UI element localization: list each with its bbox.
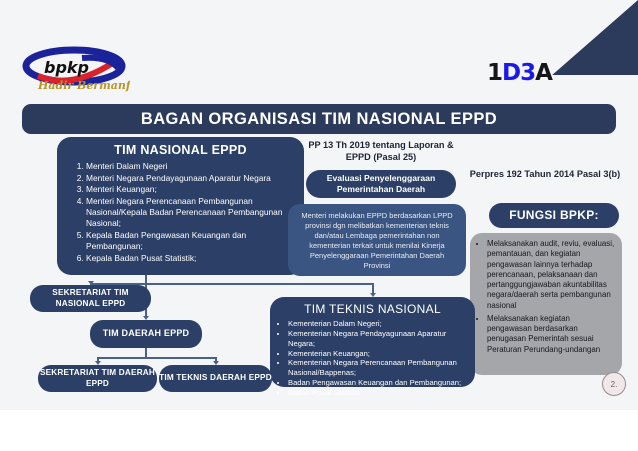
fungsi-bpkp-list: Melaksanakan audit, reviu, evaluasi, pem… bbox=[474, 239, 616, 355]
slide-title-bar: BAGAN ORGANISASI TIM NASIONAL EPPD bbox=[22, 104, 616, 134]
svg-text:bpkp: bpkp bbox=[44, 58, 89, 77]
list-item: Kementerian Negara Perencanaan Pembangun… bbox=[288, 358, 469, 378]
list-item: Kepala Badan Pengawasan Keuangan dan Pem… bbox=[86, 230, 296, 252]
list-item: Menteri Dalam Negeri bbox=[86, 161, 296, 172]
pp-section-heading: PP 13 Th 2019 tentang Laporan & EPPD (Pa… bbox=[296, 139, 466, 164]
page-title: BAGAN ORGANISASI TIM NASIONAL EPPD bbox=[141, 110, 497, 129]
list-item: Kementerian Dalam Negeri; bbox=[288, 319, 469, 329]
list-item: Badan Pengawasan Keuangan dan Pembanguna… bbox=[288, 378, 469, 388]
node-tim-daerah-eppd[interactable]: TIM DAERAH EPPD bbox=[90, 320, 202, 348]
tim-nasional-heading: TIM NASIONAL EPPD bbox=[65, 143, 296, 157]
list-item: Melaksanakan kegiatan pengawasan berdasa… bbox=[487, 314, 616, 355]
node-sekretariat-tim-nasional-eppd[interactable]: SEKRETARIAT TIM NASIONAL EPPD bbox=[30, 285, 151, 312]
secondary-logo: 1D3A bbox=[487, 60, 552, 86]
connector-arrow bbox=[370, 293, 376, 297]
tim-nasional-list: Menteri Dalam Negeri Menteri Negara Pend… bbox=[65, 161, 296, 264]
svg-text:Hadir Bermanfaat: Hadir Bermanfaat bbox=[37, 79, 130, 92]
node-sekretariat-tim-daerah-eppd[interactable]: SEKRETARIAT TIM DAERAH EPPD bbox=[38, 365, 157, 392]
list-item: Menteri Negara Pendayagunaan Aparatur Ne… bbox=[86, 173, 296, 184]
tim-teknis-nasional-heading: TIM TEKNIS NASIONAL bbox=[276, 302, 469, 316]
evaluasi-body-box: Menteri melakukan EPPD berdasarkan LPPD … bbox=[288, 204, 466, 276]
list-item: Melaksanakan audit, reviu, evaluasi, pem… bbox=[487, 239, 616, 311]
tim-teknis-nasional-list: Kementerian Dalam Negeri; Kementerian Ne… bbox=[276, 319, 469, 398]
page-number: 2. bbox=[611, 380, 618, 389]
tim-teknis-nasional-panel: TIM TEKNIS NASIONAL Kementerian Dalam Ne… bbox=[270, 297, 475, 387]
perpres-section-heading: Perpres 192 Tahun 2014 Pasal 3(b) bbox=[462, 168, 628, 180]
list-item: Kementerian Negara Pendayagunaan Aparatu… bbox=[288, 329, 469, 349]
bpkp-logo: bpkp Hadir Bermanfaat bbox=[22, 46, 130, 96]
logo-part-3: A bbox=[535, 60, 552, 86]
list-item: Menteri Keuangan; bbox=[86, 184, 296, 195]
node-tim-teknis-daerah-eppd[interactable]: TIM TEKNIS DAERAH EPPD bbox=[159, 365, 272, 392]
connector-line bbox=[97, 357, 216, 359]
logo-part-1: 1 bbox=[487, 60, 502, 86]
fungsi-bpkp-badge: FUNGSI BPKP: bbox=[489, 203, 619, 228]
list-item: Badan Pusat Statistik. bbox=[288, 388, 469, 398]
slide-canvas: bpkp Hadir Bermanfaat 1D3A BAGAN ORGANIS… bbox=[0, 0, 638, 410]
list-item: Kementerian Keuangan; bbox=[288, 349, 469, 359]
list-item: Menteri Negara Perencanaan Pembangunan N… bbox=[86, 196, 296, 230]
logo-part-2: D3 bbox=[502, 60, 535, 86]
evaluasi-badge: Evaluasi Penyelenggaraan Pemerintahan Da… bbox=[306, 170, 456, 198]
page-number-badge: 2. bbox=[602, 372, 626, 396]
fungsi-bpkp-box: Melaksanakan audit, reviu, evaluasi, pem… bbox=[470, 233, 622, 375]
tim-nasional-panel: TIM NASIONAL EPPD Menteri Dalam Negeri M… bbox=[57, 137, 304, 275]
list-item: Kepala Badan Pusat Statistik; bbox=[86, 253, 296, 264]
